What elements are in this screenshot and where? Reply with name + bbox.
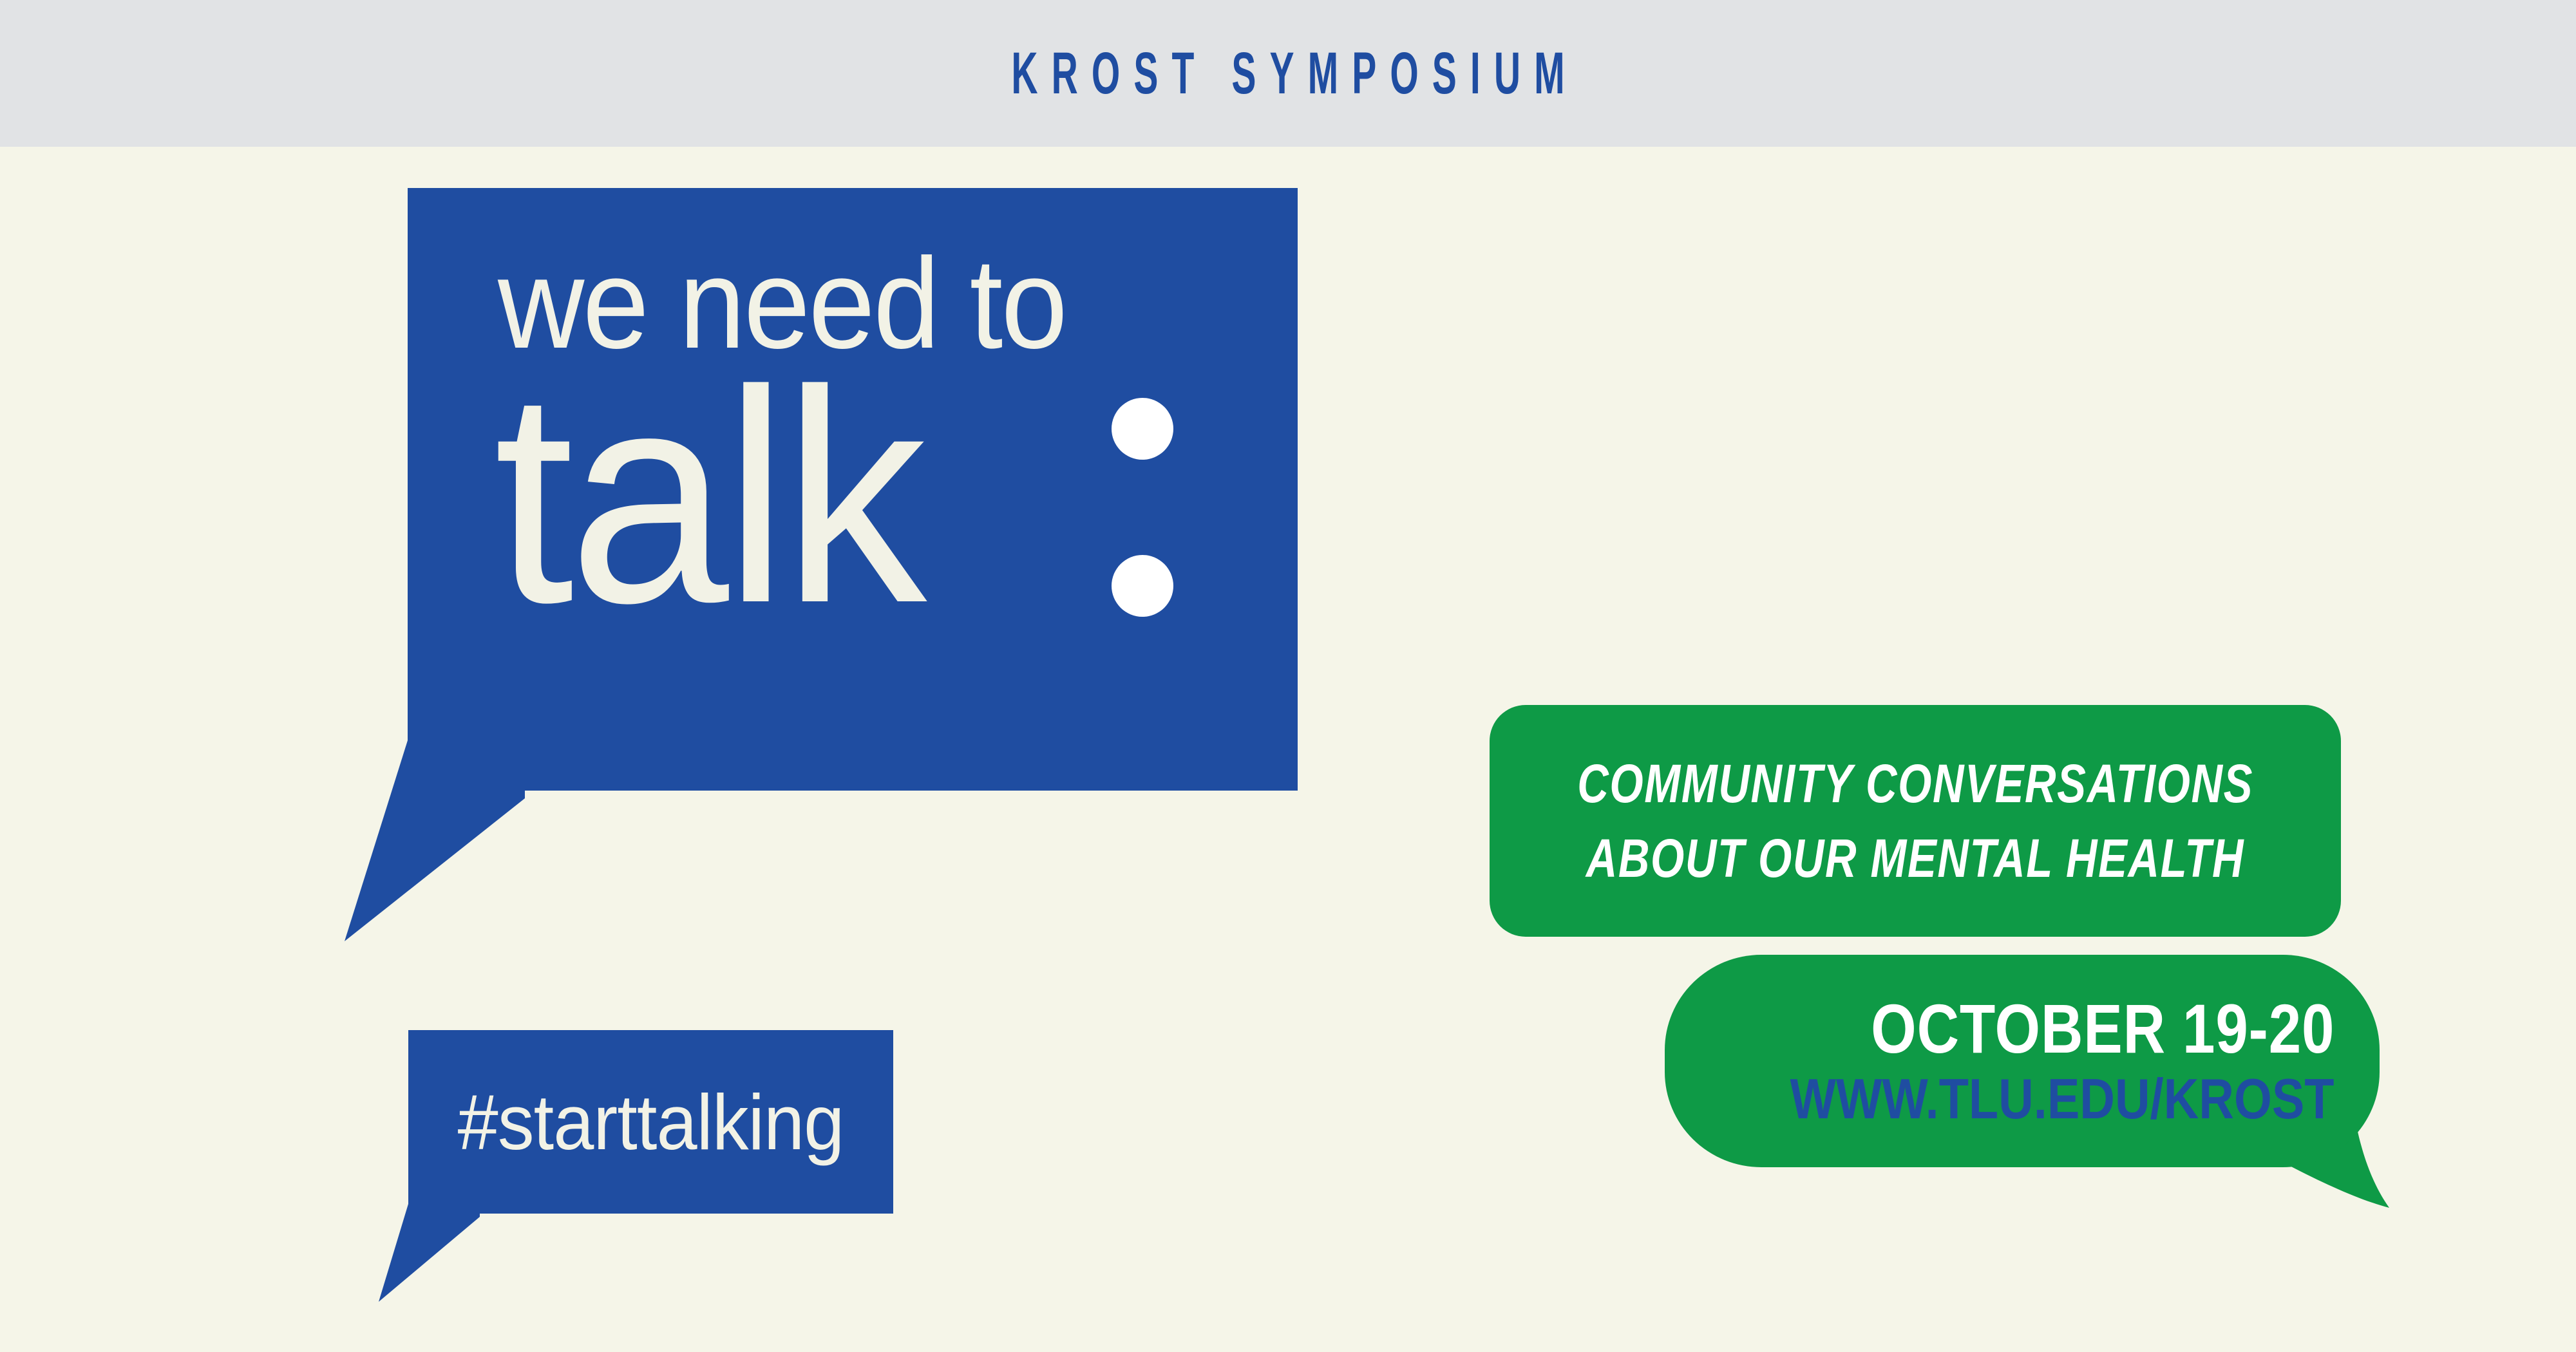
poster-canvas: KROST SYMPOSIUM we need to talk #startta… [0,0,2576,1352]
event-url[interactable]: WWW.TLU.EDU/KROST [1790,1067,2334,1131]
tagline-line-1: COMMUNITY CONVERSATIONS [1577,746,2253,821]
hashtag-text: #starttalking [425,1030,876,1214]
colon-dot-lower-icon [1112,555,1173,617]
main-message-bubble: we need to talk [408,188,1298,791]
info-bubble-content: OCTOBER 19-20 WWW.TLU.EDU/KROST [1665,955,2380,1167]
tagline-line-2: ABOUT OUR MENTAL HEALTH [1586,821,2244,896]
hashtag-bubble: #starttalking [408,1030,893,1214]
tagline-bubble: COMMUNITY CONVERSATIONS ABOUT OUR MENTAL… [1490,705,2341,937]
hashtag-bubble-tail-icon [374,1204,489,1307]
info-bubble: OCTOBER 19-20 WWW.TLU.EDU/KROST [1665,955,2380,1167]
event-date: OCTOBER 19-20 [1871,991,2334,1067]
page-title: KROST SYMPOSIUM [489,0,2087,147]
main-bubble-line-2: talk [494,346,922,648]
colon-dot-upper-icon [1112,398,1173,460]
